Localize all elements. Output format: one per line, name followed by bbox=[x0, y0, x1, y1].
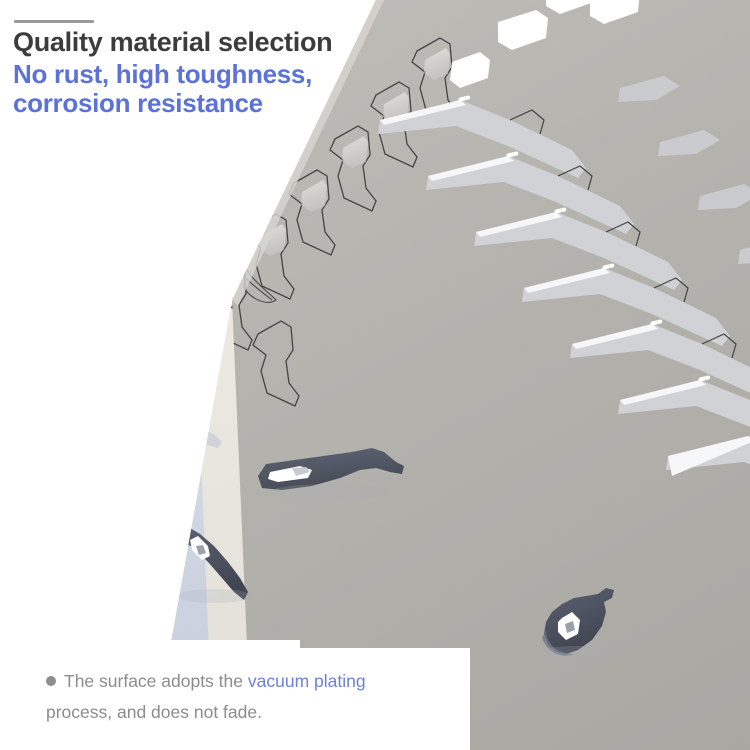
caption-text-before: The surface adopts the bbox=[64, 671, 248, 691]
bullet-icon bbox=[46, 676, 56, 686]
caption-backdrop-feather bbox=[0, 640, 300, 652]
page-title: Quality material selection bbox=[13, 27, 332, 57]
product-feature-banner: Quality material selection No rust, high… bbox=[0, 0, 750, 750]
page-subtitle: No rust, high toughness, corrosion resis… bbox=[13, 60, 413, 118]
divider-rule bbox=[14, 20, 94, 23]
caption-text-after: process, and does not fade. bbox=[46, 702, 262, 722]
subtitle-line-1: No rust, high toughness, bbox=[13, 60, 413, 89]
footer-caption: The surface adopts the vacuum plating pr… bbox=[46, 666, 476, 728]
caption-highlight: vacuum plating bbox=[248, 671, 366, 691]
subtitle-line-2: corrosion resistance bbox=[13, 89, 413, 118]
